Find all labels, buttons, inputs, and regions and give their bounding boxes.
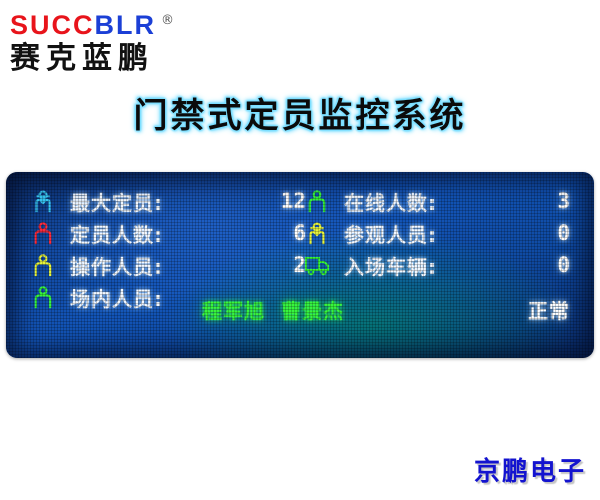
person-hat-icon	[28, 187, 58, 215]
led-row-vehicles: 入场车辆: 0	[302, 250, 574, 280]
brand-logo-chinese: 赛克蓝鹏	[10, 41, 260, 77]
person-hat-icon	[302, 219, 332, 247]
led-row-operators: 操作人员: 2	[28, 250, 310, 280]
led-row-online-count: 在线人数: 3	[302, 186, 574, 216]
led-value-vehicles: 0	[536, 253, 574, 277]
footer-brand: 京鹏电子	[474, 451, 586, 488]
onsite-names-list: 程军旭 曹景杰	[202, 294, 452, 324]
led-value-visitors: 0	[536, 221, 574, 245]
brand-logo-latin-blr: BLR	[95, 10, 157, 40]
led-value-online-count: 3	[536, 189, 574, 213]
truck-icon	[302, 251, 332, 279]
led-label-operators: 操作人员:	[58, 251, 272, 280]
brand-logo-latin: SUCCBLR®	[10, 6, 260, 40]
led-row-visitors: 参观人员: 0	[302, 218, 574, 248]
brand-logo: SUCCBLR® 赛克蓝鹏	[10, 6, 260, 76]
registered-trademark-icon: ®	[161, 13, 176, 28]
page-title: 门禁式定员监控系统	[0, 88, 600, 137]
led-row-assigned-count: 定员人数: 6	[28, 218, 310, 248]
person-icon	[302, 187, 332, 215]
led-row-max-capacity: 最大定员: 12	[28, 186, 310, 216]
led-label-vehicles: 入场车辆:	[332, 251, 536, 280]
person-icon	[28, 219, 58, 247]
brand-logo-latin-succ: SUCC	[10, 10, 95, 40]
led-label-assigned-count: 定员人数:	[58, 219, 272, 248]
led-label-max-capacity: 最大定员:	[58, 187, 272, 216]
onsite-name-item: 程军旭	[202, 295, 265, 324]
status-badge: 正常	[528, 294, 570, 324]
person-icon	[28, 283, 58, 311]
led-label-visitors: 参观人员:	[332, 219, 536, 248]
led-label-online-count: 在线人数:	[332, 187, 536, 216]
person-icon	[28, 251, 58, 279]
led-display-panel: 最大定员: 12 定员人数: 6	[6, 172, 594, 358]
onsite-name-item: 曹景杰	[281, 295, 344, 324]
